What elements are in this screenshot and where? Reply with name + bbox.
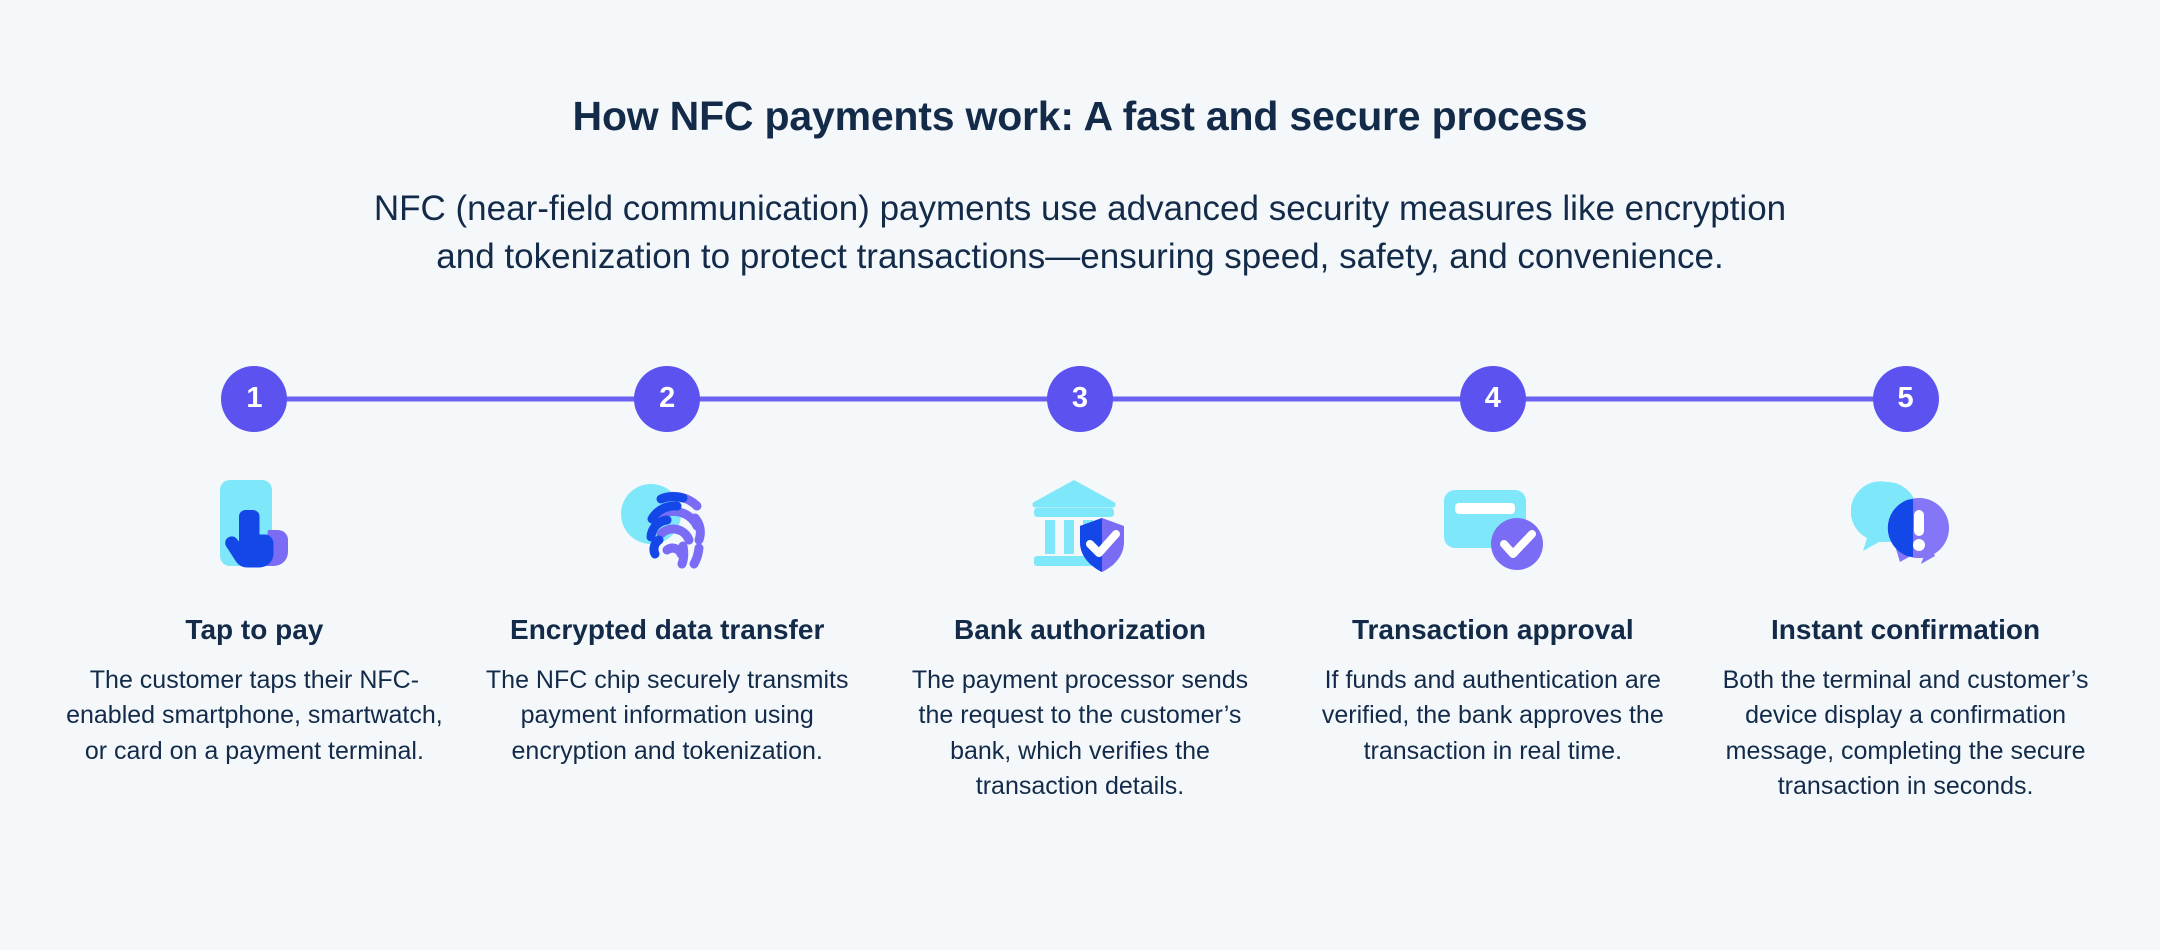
step-caption: Transaction approval If funds and authen… (1286, 612, 1699, 770)
step-title: Encrypted data transfer (479, 612, 856, 647)
steps-timeline: 1 Tap to pay The customer taps their NFC… (0, 366, 2160, 805)
step-description: If funds and authentication are verified… (1304, 663, 1681, 770)
step-marker-row: 3 (874, 366, 1287, 432)
step-marker-row: 2 (461, 366, 874, 432)
step-title: Instant confirmation (1717, 612, 2094, 647)
nfc-payments-infographic: How NFC payments work: A fast and secure… (0, 0, 2160, 950)
step-number-badge: 5 (1873, 366, 1939, 432)
step-title: Bank authorization (892, 612, 1269, 647)
step-description: The payment processor sends the request … (892, 663, 1269, 805)
step-number-badge: 1 (221, 366, 287, 432)
step-description: Both the terminal and customer’s device … (1717, 663, 2094, 805)
step-item: 5 Instant confirmation (1699, 366, 2112, 805)
header: How NFC payments work: A fast and secure… (0, 0, 2160, 282)
tap-to-pay-phone-icon (184, 470, 324, 578)
step-number-badge: 4 (1460, 366, 1526, 432)
step-item: 4 Transaction approval If funds and auth… (1286, 366, 1699, 805)
step-item: 3 Bank author (874, 366, 1287, 805)
chat-bubbles-alert-icon (1836, 470, 1976, 578)
step-description: The customer taps their NFC-enabled smar… (66, 663, 443, 770)
step-title: Transaction approval (1304, 612, 1681, 647)
page-title: How NFC payments work: A fast and secure… (0, 92, 2160, 141)
page-subtitle: NFC (near-field communication) payments … (240, 185, 1920, 282)
step-number-badge: 2 (634, 366, 700, 432)
fingerprint-icon (597, 470, 737, 578)
step-caption: Tap to pay The customer taps their NFC-e… (48, 612, 461, 770)
step-caption: Encrypted data transfer The NFC chip sec… (461, 612, 874, 770)
bank-shield-check-icon (1010, 470, 1150, 578)
step-marker-row: 5 (1699, 366, 2112, 432)
subtitle-line-1: NFC (near-field communication) payments … (240, 185, 1920, 233)
step-title: Tap to pay (66, 612, 443, 647)
subtitle-line-2: and tokenization to protect transactions… (240, 233, 1920, 281)
step-caption: Bank authorization The payment processor… (874, 612, 1287, 805)
step-caption: Instant confirmation Both the terminal a… (1699, 612, 2112, 805)
credit-card-check-icon (1423, 470, 1563, 578)
step-number-badge: 3 (1047, 366, 1113, 432)
step-description: The NFC chip securely transmits payment … (479, 663, 856, 770)
step-marker-row: 4 (1286, 366, 1699, 432)
step-marker-row: 1 (48, 366, 461, 432)
step-item: 1 Tap to pay The customer taps their NFC… (48, 366, 461, 805)
step-item: 2 (461, 366, 874, 805)
